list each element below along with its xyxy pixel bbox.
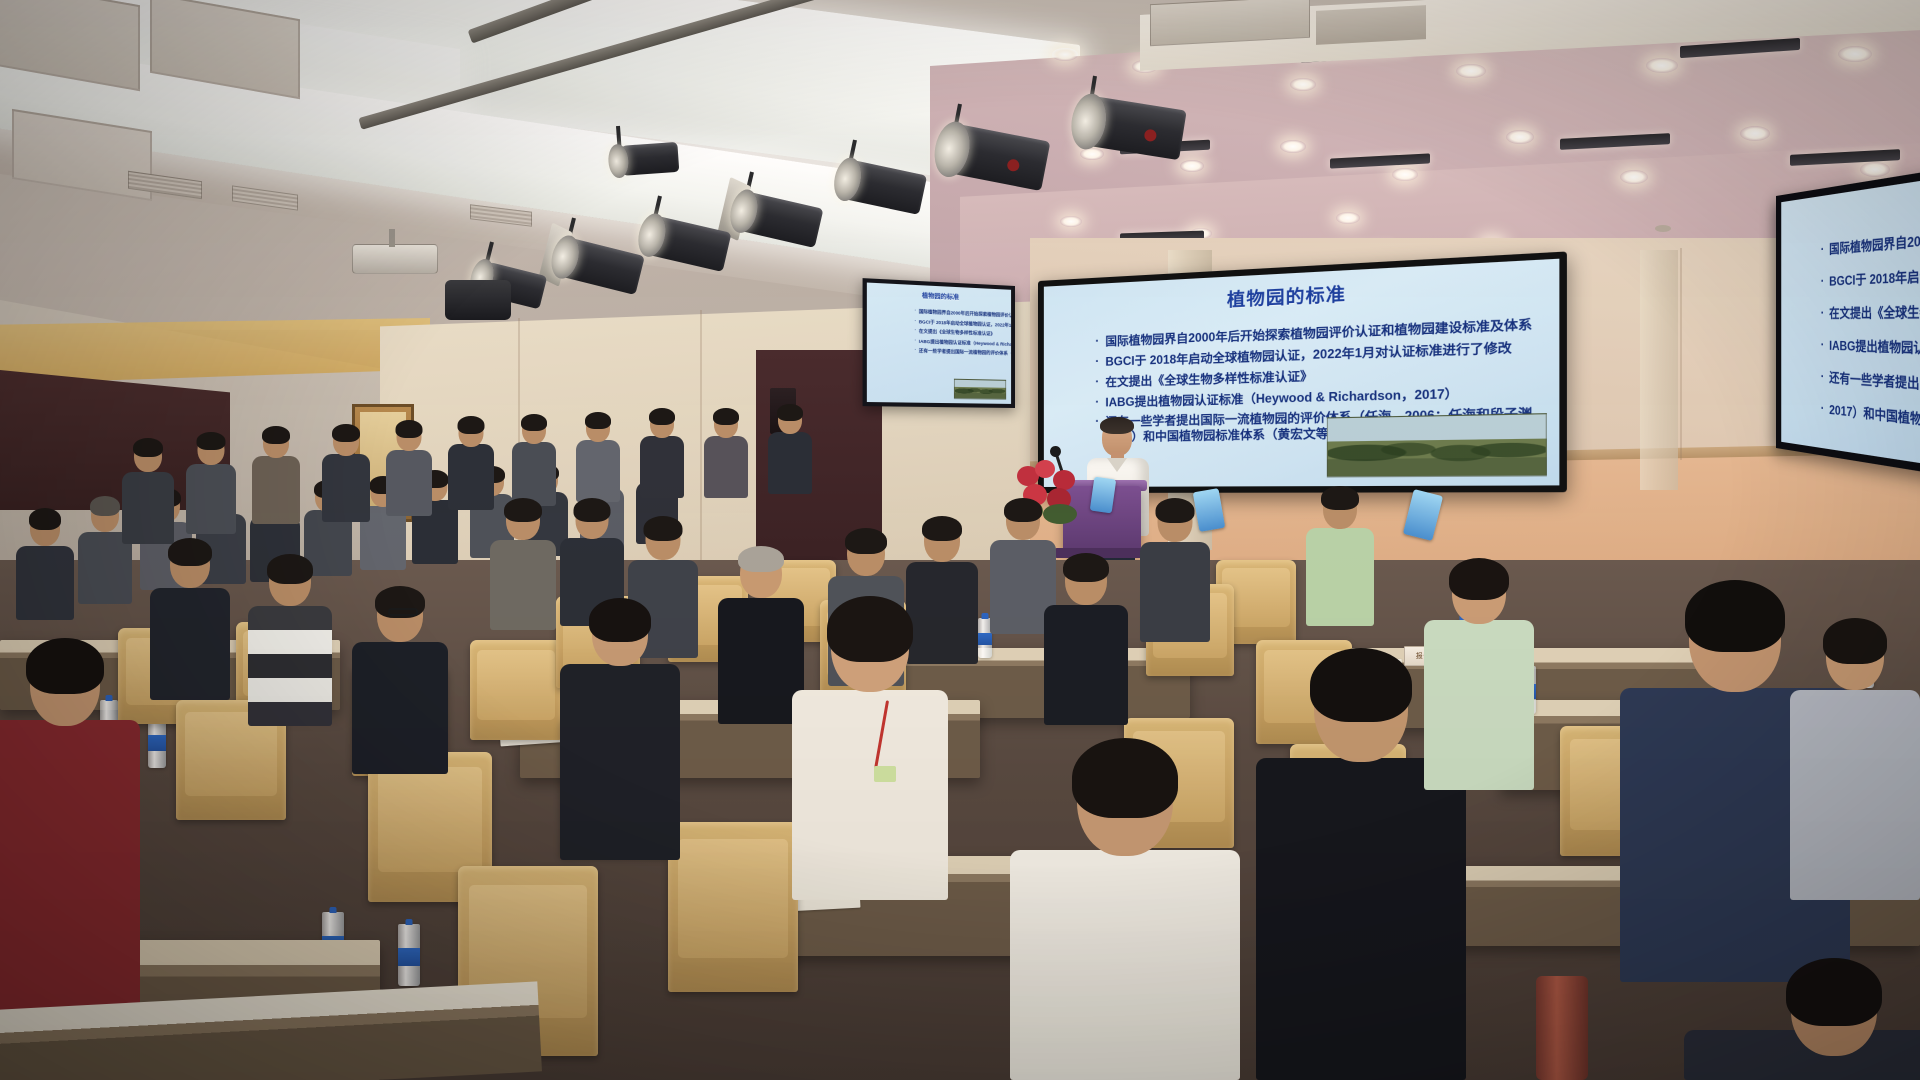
person-hair [1156,498,1195,523]
person-body [122,472,174,544]
person-body [1140,542,1210,642]
person-body [560,664,680,860]
downlight-15 [1506,130,1534,144]
chair-17[interactable] [668,822,798,992]
screen-left-small: 植物园的标准 国际植物园界自2000年后开始探索植物园评价认证和植物园建设标准及… [863,278,1015,408]
audience-person-34 [1044,555,1128,725]
person-body [792,690,948,900]
person-body [1790,690,1920,900]
person-body [352,642,448,774]
audience-person-25 [248,556,332,726]
person-hair [26,638,104,694]
screen-left-slide-title: 植物园的标准 [867,288,1011,304]
flower-blossom [1035,460,1055,478]
ceiling-projector-right [445,280,511,320]
person-hair [585,412,611,429]
person-body [1044,605,1128,725]
audience-person-21 [640,410,684,498]
audience-person-19 [512,416,556,506]
audience-person-24 [150,540,230,700]
person-body [640,436,684,498]
person-body [322,454,370,522]
audience-person-foreground-2 [1010,740,1240,1080]
screen-left-surface: 植物园的标准 国际植物园界自2000年后开始探索植物园评价认证和植物园建设标准及… [867,283,1011,404]
person-body [1256,758,1466,1080]
person-body [252,456,300,524]
person-body [1306,528,1374,626]
downlight-6 [1456,64,1486,78]
person-hair [168,538,212,566]
screen-right-bullets: 国际植物园界自2000年后… BGCI于 2018年启动全球植… 在文提出《全球… [1789,200,1920,470]
audience-person-14 [186,434,236,534]
person-hair [396,420,423,438]
person-hair [574,498,611,522]
slide-forest-photo [1327,413,1547,477]
person-body [1424,620,1534,790]
person-body [16,546,74,620]
person-hair [1449,558,1509,600]
wall-seam-2 [1680,248,1682,460]
downlight-21 [1336,212,1360,224]
person-body [512,442,556,506]
person-hair [827,596,913,662]
downlight-14 [1392,168,1418,181]
person-body [386,450,432,516]
person-hair [262,426,290,444]
person-hair [504,498,542,522]
person-hair [589,598,651,642]
audience-person-foreground-5 [1684,960,1920,1080]
person-hair [133,438,163,457]
screen-right-surface: 国际植物园界自2000年后… BGCI于 2018年启动全球植… 在文提出《全球… [1781,142,1920,501]
person-hair [922,516,962,541]
person-hair [458,416,485,434]
water-bottle-l4[interactable] [398,924,420,986]
person-body [704,436,748,498]
bottle-label [148,735,166,751]
person-hair [521,414,547,431]
person-hair [1310,648,1412,722]
wall-pillar-right [1640,250,1678,490]
person-body [1010,850,1240,1080]
person-body [490,540,556,630]
person-hair [1321,486,1359,510]
person-body [248,606,332,726]
person-hair [1823,618,1887,664]
audience-person-23 [768,406,812,494]
person-hair [738,546,784,572]
downlight-17 [1740,126,1770,141]
audience-person-16 [322,426,370,522]
person-hair [649,408,675,425]
downlight-13 [1280,140,1306,153]
person-hair [29,508,61,530]
screen-right-line-3: 在文提出《全球生物多样性… [1821,290,1920,331]
person-body [768,432,812,494]
downlight-12 [1180,160,1204,172]
person-hair [197,432,226,450]
person-hair [644,516,683,541]
person-hair [267,554,313,584]
audience-person-foreground-9 [1790,620,1920,900]
person-body [576,440,620,502]
person-hair [713,408,739,425]
thermos-l1[interactable] [1536,976,1588,1080]
audience-person-foreground-1 [792,598,948,898]
audience-person-20 [576,414,620,502]
presenter-hair [1100,417,1134,434]
person-hair [90,496,120,516]
audience-person-17 [386,422,432,516]
audience-person-36 [1306,488,1374,626]
bottle-cap [982,613,989,619]
person-body [186,464,236,534]
person-hair [845,528,887,554]
person-body [150,588,230,700]
screen-left-slide-photo [954,379,1006,400]
downlight-1 [1052,48,1078,61]
audience-person-22 [704,410,748,498]
flower-blossom [1053,470,1075,490]
conference-hall-photo: 植物园的标准 国际植物园界自2000年后开始探索植物园评价认证和植物园建设标准及… [0,0,1920,1080]
screen-right-line-1: 国际植物园界自2000年后… [1821,200,1920,264]
downlight-4 [1290,78,1316,91]
projector-mount [389,229,395,247]
bottle-cap [406,919,413,925]
person-hair [1063,553,1109,582]
downlight-16 [1620,170,1648,184]
person-body [448,444,494,510]
audience-person-15 [252,428,300,524]
downlight-8 [1646,58,1678,73]
phone-raised-3[interactable] [1090,477,1117,514]
bottle-cap [330,907,337,913]
downlight-18 [1860,162,1890,177]
person-hair [1786,958,1882,1026]
person-hair [332,424,360,442]
slide-title: 植物园的标准 [1044,268,1560,320]
audience-person-13 [122,440,174,544]
eyeglasses [388,608,418,616]
audience-person-foreground-8 [560,600,680,860]
audience-person-1 [16,510,74,620]
badge-1 [874,766,896,782]
bottle-label [398,948,420,967]
person-hair [1004,498,1042,522]
audience-person-18 [448,418,494,510]
downlight-11 [1080,148,1104,160]
person-hair [1685,580,1785,652]
person-hair [777,404,803,421]
audience-person-27 [490,500,556,630]
ceiling-smoke-detector [1655,225,1671,232]
downlight-10 [1838,46,1872,62]
screen-left-bullets: 国际植物园界自2000年后开始探索植物园评价认证和植物园建设标准及体系 BGCI… [872,306,1008,359]
audience-person-foreground-7 [1424,560,1534,790]
screen-left-bullet-5: 还有一些学者提出国际一流植物园的评价体系（任海，2006；任海和段子渊，2017… [915,347,1008,358]
ceiling-projector-left [352,244,438,274]
bottle-label [978,633,992,645]
chair-5[interactable] [470,640,562,740]
downlight-19 [1060,216,1082,227]
screen-right-line-6: 2017）和中国植物园标准体… [1821,395,1920,466]
ceiling-projector-box-2 [1316,5,1426,45]
person-hair [1072,738,1178,818]
